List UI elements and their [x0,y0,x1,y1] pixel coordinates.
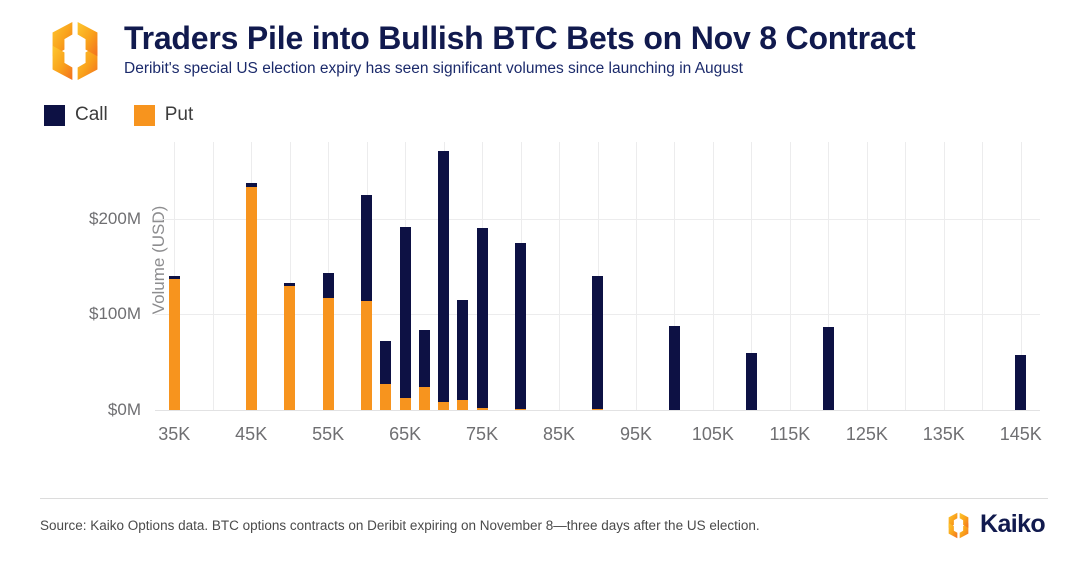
legend-item-put[interactable]: Put [134,104,194,126]
x-gridline [559,142,560,410]
x-gridline [636,142,637,410]
footer-divider [40,498,1048,499]
bar[interactable] [515,243,526,411]
bar[interactable] [323,273,334,410]
bar-segment-put [361,301,372,410]
y-gridline [155,219,1040,220]
legend-swatch-put [134,105,155,126]
bar[interactable] [169,276,180,410]
bar-segment-call [746,353,757,410]
bar-segment-put [592,409,603,410]
x-gridline [905,142,906,410]
bar-segment-put [515,409,526,410]
x-axis-baseline [155,410,1040,411]
bar-segment-call [361,195,372,301]
x-gridline [867,142,868,410]
y-tick-label: $0M [21,400,141,420]
bar[interactable] [284,283,295,410]
bar-segment-call [246,183,257,187]
bar[interactable] [457,300,468,410]
bar-segment-put [419,387,430,410]
legend-label-call: Call [75,104,108,126]
bar[interactable] [669,326,680,410]
bar-segment-put [400,398,411,410]
x-gridline [713,142,714,410]
x-tick-label: 105K [692,424,734,445]
bar-segment-put [169,279,180,410]
x-gridline [213,142,214,410]
bar-segment-call [380,341,391,384]
bar[interactable] [1015,355,1026,411]
bar-segment-call [457,300,468,401]
y-axis-label: Volume (USD) [149,170,169,350]
bar-segment-put [380,384,391,410]
bar[interactable] [380,341,391,410]
bar-segment-call [284,283,295,286]
bar-segment-put [438,402,449,410]
bar[interactable] [746,353,757,410]
bar-segment-put [457,400,468,410]
footer-logo: Kaiko [944,510,1048,540]
bar-segment-call [477,228,488,408]
bar[interactable] [246,183,257,410]
bar[interactable] [592,276,603,410]
x-tick-label: 65K [389,424,421,445]
footer-wordmark: Kaiko [980,510,1045,539]
y-tick-label: $200M [21,209,141,229]
source-note: Source: Kaiko Options data. BTC options … [40,518,760,533]
bar[interactable] [477,228,488,410]
legend-swatch-call [44,105,65,126]
page-title: Traders Pile into Bullish BTC Bets on No… [124,20,916,57]
bar-segment-put [284,286,295,410]
chart-legend: Call Put [44,102,193,128]
bar-segment-call [438,151,449,403]
bar-segment-call [419,330,430,387]
chart-plot-area: Volume (USD) $0M$100M$200M 35K45K55K65K7… [155,142,1040,410]
bar-segment-call [169,276,180,279]
x-tick-label: 115K [770,424,811,445]
bar-segment-call [1015,355,1026,411]
kaiko-hexagon-icon [944,511,973,540]
bar[interactable] [400,227,411,410]
x-tick-label: 55K [312,424,344,445]
x-gridline [982,142,983,410]
kaiko-hexagon-icon [42,18,108,84]
page-subtitle: Deribit's special US election expiry has… [124,60,743,78]
x-tick-label: 35K [158,424,190,445]
legend-label-put: Put [165,104,194,126]
x-tick-label: 85K [543,424,575,445]
x-gridline [944,142,945,410]
x-tick-label: 125K [846,424,888,445]
x-tick-label: 135K [923,424,965,445]
bar[interactable] [438,151,449,410]
x-tick-label: 75K [466,424,498,445]
bar[interactable] [823,327,834,410]
y-tick-label: $100M [21,304,141,324]
bar[interactable] [419,330,430,410]
chart-header: Traders Pile into Bullish BTC Bets on No… [0,0,1088,95]
bar-segment-put [477,408,488,410]
bar-segment-put [246,187,257,410]
bar-segment-call [400,227,411,397]
x-tick-label: 95K [620,424,652,445]
x-tick-label: 45K [235,424,267,445]
bar-segment-call [323,273,334,298]
bar-segment-call [669,326,680,410]
bar-segment-call [592,276,603,409]
legend-item-call[interactable]: Call [44,104,108,126]
x-tick-label: 145K [1000,424,1042,445]
bar[interactable] [361,195,372,410]
x-gridline [790,142,791,410]
bar-segment-call [823,327,834,410]
bar-segment-put [323,298,334,410]
bar-segment-call [515,243,526,410]
